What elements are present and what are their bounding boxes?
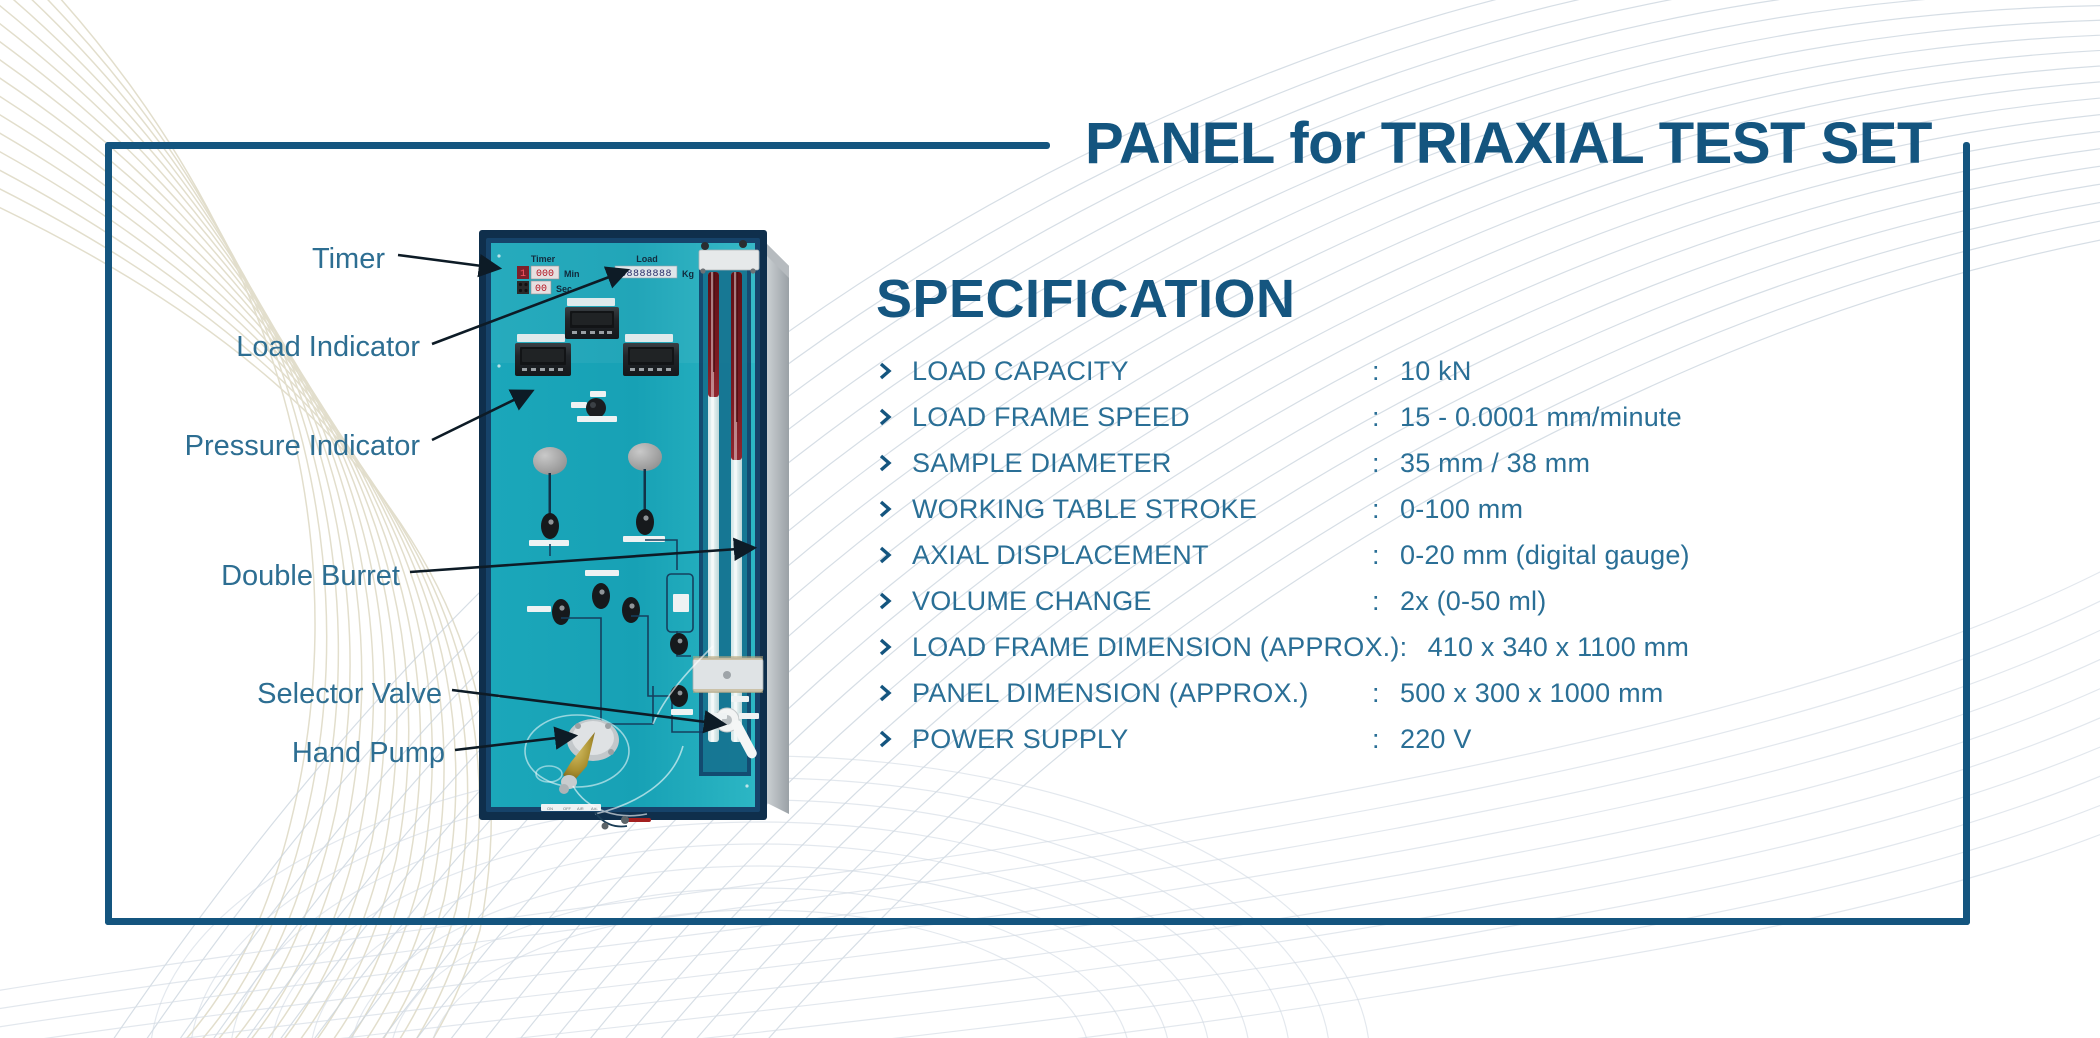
chevron-right-icon [876,591,912,611]
spec-row: POWER SUPPLY:220 V [876,716,1896,762]
spec-row: PANEL DIMENSION (APPROX.):500 x 300 x 10… [876,670,1896,716]
chevron-right-icon [876,729,912,749]
spec-label: LOAD FRAME DIMENSION (APPROX.) [912,632,1400,663]
spec-row: LOAD FRAME SPEED:15 - 0.0001 mm/minute [876,394,1896,440]
spec-label: PANEL DIMENSION (APPROX.) [912,678,1372,709]
callout-label-load-indicator: Load Indicator [0,331,420,364]
spec-label: LOAD FRAME SPEED [912,402,1372,433]
callout-label-pressure-indicator: Pressure Indicator [0,430,420,463]
chevron-right-icon [876,361,912,381]
poster-canvas: PANEL for TRIAXIAL TEST SET [0,0,2100,1038]
callout-label-timer: Timer [0,243,385,276]
spec-separator: : [1372,586,1400,617]
spec-label: LOAD CAPACITY [912,356,1372,387]
spec-value: 220 V [1400,724,1472,755]
spec-value: 15 - 0.0001 mm/minute [1400,402,1682,433]
chevron-right-icon [876,545,912,565]
spec-label: SAMPLE DIAMETER [912,448,1372,479]
spec-value: 500 x 300 x 1000 mm [1400,678,1663,709]
spec-separator: : [1372,448,1400,479]
spec-value: 0-20 mm (digital gauge) [1400,540,1690,571]
spec-separator: : [1372,724,1400,755]
spec-separator: : [1372,678,1400,709]
spec-row: WORKING TABLE STROKE:0-100 mm [876,486,1896,532]
spec-value: 35 mm / 38 mm [1400,448,1590,479]
chevron-right-icon [876,683,912,703]
spec-label: WORKING TABLE STROKE [912,494,1372,525]
spec-separator: : [1400,632,1428,663]
spec-row: AXIAL DISPLACEMENT:0-20 mm (digital gaug… [876,532,1896,578]
specification-list: LOAD CAPACITY:10 kNLOAD FRAME SPEED:15 -… [876,348,1896,762]
spec-separator: : [1372,494,1400,525]
callout-label-hand-pump: Hand Pump [0,737,445,770]
chevron-right-icon [876,453,912,473]
spec-value: 410 x 340 x 1100 mm [1428,632,1689,663]
chevron-right-icon [876,637,912,657]
spec-label: POWER SUPPLY [912,724,1372,755]
spec-separator: : [1372,402,1400,433]
callout-label-double-burret: Double Burret [0,560,400,593]
chevron-right-icon [876,499,912,519]
spec-separator: : [1372,356,1400,387]
spec-separator: : [1372,540,1400,571]
spec-row: LOAD CAPACITY:10 kN [876,348,1896,394]
callout-label-selector-valve: Selector Valve [0,678,442,711]
spec-label: VOLUME CHANGE [912,586,1372,617]
spec-value: 2x (0-50 ml) [1400,586,1546,617]
specification-heading: SPECIFICATION [876,268,1296,330]
spec-value: 0-100 mm [1400,494,1523,525]
spec-row: LOAD FRAME DIMENSION (APPROX.):410 x 340… [876,624,1896,670]
chevron-right-icon [876,407,912,427]
spec-row: VOLUME CHANGE:2x (0-50 ml) [876,578,1896,624]
spec-label: AXIAL DISPLACEMENT [912,540,1372,571]
spec-row: SAMPLE DIAMETER:35 mm / 38 mm [876,440,1896,486]
spec-value: 10 kN [1400,356,1472,387]
